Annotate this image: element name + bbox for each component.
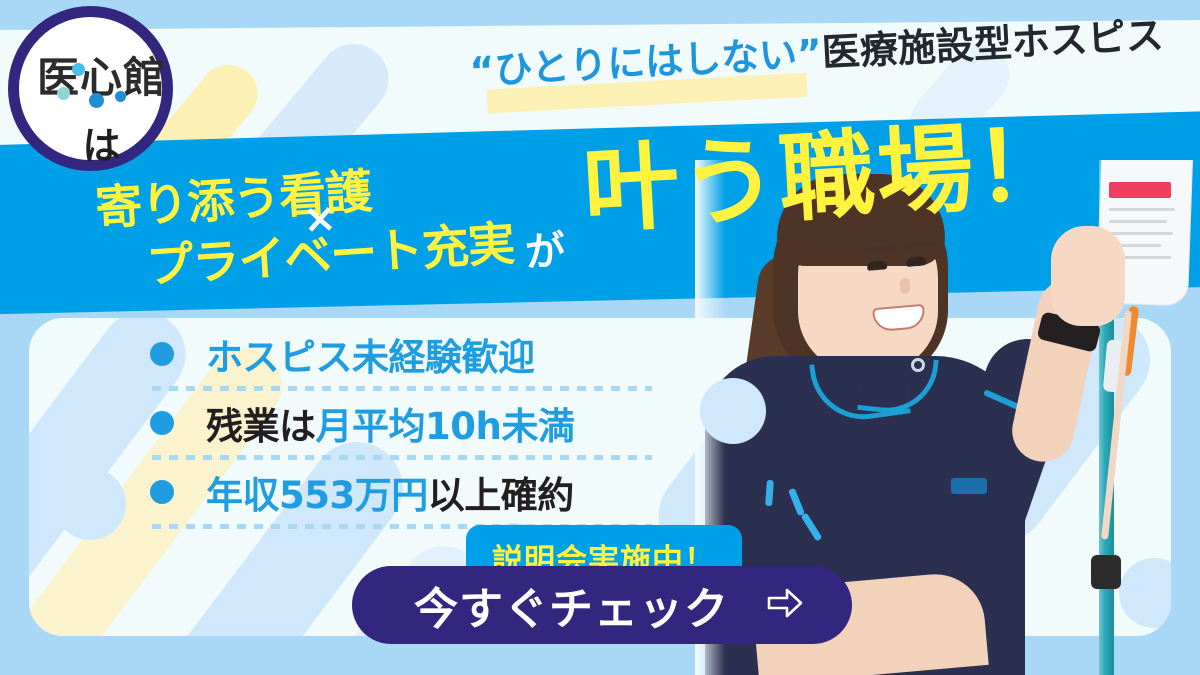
bullet-dot-icon xyxy=(150,342,174,366)
arrow-right-outline-icon xyxy=(765,585,805,626)
iv-bag-label xyxy=(1109,182,1171,198)
nurse-nose xyxy=(900,278,910,294)
logo-dot-blue-small-icon xyxy=(115,91,126,102)
benefit-2-text: 残業は月平均10h未満 xyxy=(206,396,574,450)
benefit-2-plain: 残業は xyxy=(206,405,316,448)
recruitment-banner: 医心館 は “ひとりにはしない”医療施設型ホスピス 寄り添う看護 × プライベー… xyxy=(0,0,1200,675)
card-circle-2 xyxy=(54,468,126,540)
logo-dot-teal-icon xyxy=(57,87,70,100)
nurse-chest-badge xyxy=(951,478,987,494)
list-item: ホスピス未経験歓迎 xyxy=(150,322,670,386)
logo-dot-blue-icon xyxy=(89,93,104,108)
nurse-eye-left xyxy=(867,260,888,271)
benefit-3-highlight: 年収553万円 xyxy=(206,474,428,517)
iv-label-line-3 xyxy=(1109,232,1173,235)
benefit-2-highlight: 月平均10h未満 xyxy=(316,405,575,448)
bullet-dot-icon xyxy=(150,480,174,504)
iv-label-line-2 xyxy=(1109,220,1167,223)
iv-pole-clamp xyxy=(1091,555,1121,589)
iv-label-line-1 xyxy=(1109,208,1175,211)
cta-button-label: 今すぐチェック xyxy=(414,573,729,637)
deco-circle-near-nurse xyxy=(700,378,766,444)
nurse-collar-snap xyxy=(911,358,925,372)
cta-button[interactable]: 今すぐチェック xyxy=(352,566,852,644)
list-item: 年収553万円以上確約 xyxy=(150,460,670,524)
benefit-3-plain: 以上確約 xyxy=(428,474,574,517)
list-item: 残業は月平均10h未満 xyxy=(150,391,670,455)
logo-suffix: は xyxy=(19,115,184,170)
logo[interactable]: 医心館 は xyxy=(8,6,186,184)
benefit-list: ホスピス未経験歓迎 残業は月平均10h未満 年収553万円以上確約 xyxy=(150,322,670,529)
benefit-3-text: 年収553万円以上確約 xyxy=(206,465,574,519)
nurse-hair-top xyxy=(777,174,945,266)
nurse-hand xyxy=(1051,226,1125,326)
logo-dot-cyan-icon xyxy=(72,63,85,76)
logo-circle: 医心館 は xyxy=(8,6,173,171)
benefit-1-text: ホスピス未経験歓迎 xyxy=(206,327,535,381)
bullet-dot-icon xyxy=(150,411,174,435)
logo-dot-group xyxy=(19,69,184,109)
